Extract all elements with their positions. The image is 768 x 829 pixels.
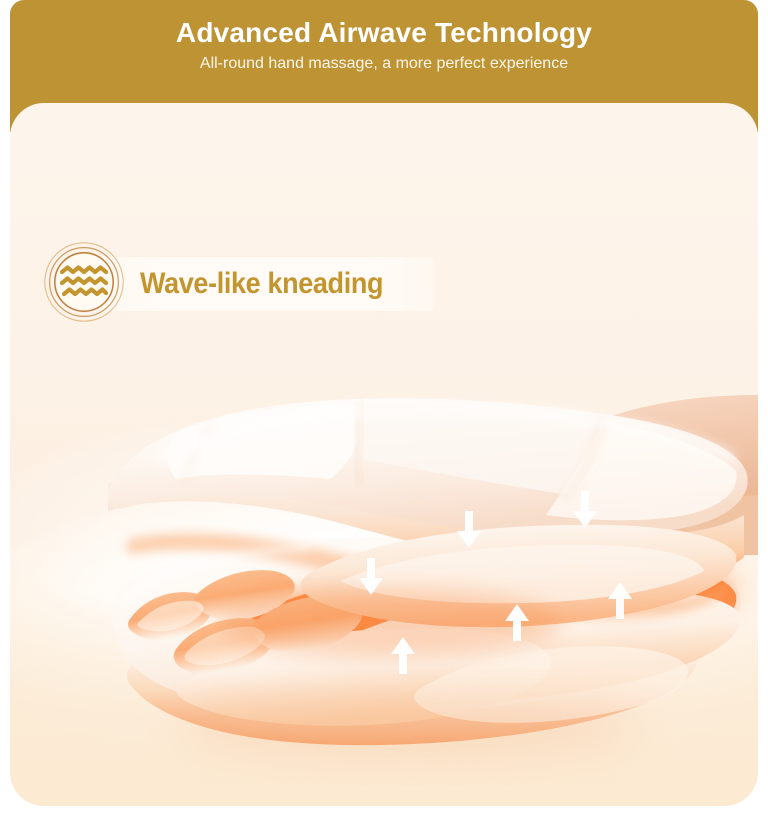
page-subtitle: All-round hand massage, a more perfect e… [10, 53, 758, 75]
badge-label: Wave-like kneading [140, 261, 410, 307]
feature-badge: Wave-like kneading [43, 241, 435, 323]
product-feature-page: Advanced Airwave Technology All-round ha… [0, 0, 768, 829]
massager-cutaway-svg [10, 103, 758, 806]
page-title: Advanced Airwave Technology [10, 16, 758, 50]
product-illustration [10, 103, 758, 806]
header-text-wrap: Advanced Airwave Technology All-round ha… [10, 0, 758, 75]
feature-content-card: Wave-like kneading [10, 103, 758, 806]
wave-circle-icon [43, 241, 125, 323]
